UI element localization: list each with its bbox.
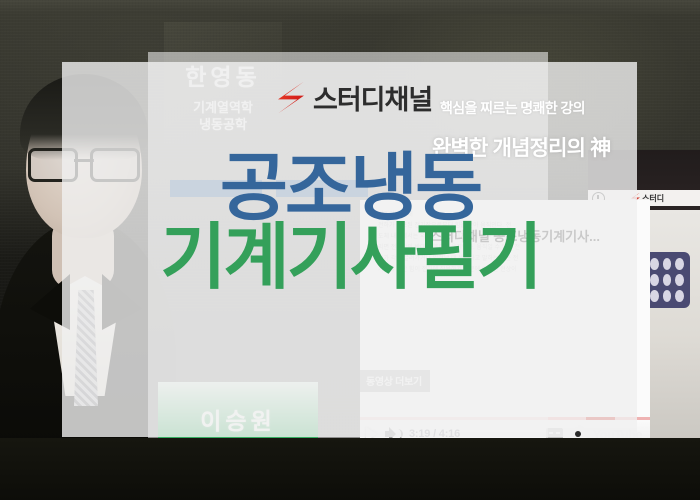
page-title-line-1: 공조냉동: [0, 152, 700, 224]
promo-thumbnail: 스터디 ㄴ(ㄷ) 전기기기 안내 전하가 분포된 전기장으로부터 힘을 받아 움…: [0, 0, 700, 500]
bottom-dark-strip: [0, 438, 700, 500]
brand-lockup: 스터디채널: [278, 78, 432, 117]
wall-top-band: [0, 0, 700, 14]
brand-name: 스터디채널: [313, 78, 432, 117]
studychannel-s-mark-icon: [278, 82, 304, 114]
page-title: 공조냉동 기계기사필기: [0, 152, 700, 294]
tagline-small: 핵심을 찌르는 명쾌한 강의: [440, 98, 585, 118]
page-title-line-2: 기계기사필기: [0, 224, 700, 294]
